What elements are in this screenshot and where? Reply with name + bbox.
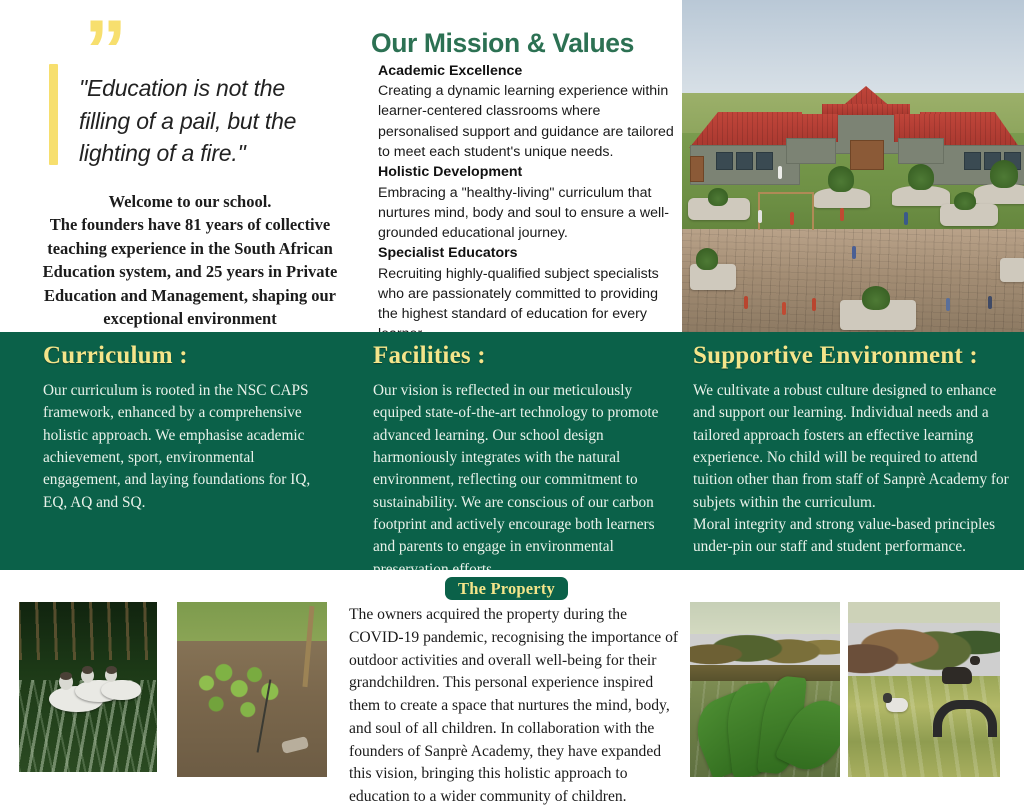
- person: [758, 210, 762, 223]
- goat-body: [942, 667, 972, 684]
- shrub: [708, 188, 728, 206]
- tyre: [933, 700, 997, 737]
- treeline-layer: [690, 613, 840, 673]
- mission-item: Academic Excellence Creating a dynamic l…: [378, 61, 678, 162]
- person: [904, 212, 908, 225]
- person: [744, 296, 748, 309]
- supportive-environment-column: Supportive Environment : We cultivate a …: [688, 332, 1024, 570]
- seedling-row: [195, 655, 291, 725]
- duck-cap: [106, 666, 117, 674]
- duck-cap: [82, 666, 93, 674]
- planter: [1000, 258, 1024, 282]
- quote-text: "Education is not the filling of a pail,…: [79, 72, 339, 170]
- shrub: [908, 164, 934, 190]
- quote-block: ” "Education is not the filling of a pai…: [0, 0, 360, 332]
- dog-head: [883, 693, 892, 703]
- mission-block: Our Mission & Values Academic Excellence…: [360, 0, 682, 332]
- supportive-environment-title: Supportive Environment :: [693, 342, 978, 370]
- duck: [101, 680, 141, 700]
- top-section: ” "Education is not the filling of a pai…: [0, 0, 1024, 332]
- shrub: [828, 166, 854, 192]
- shrub: [862, 286, 890, 310]
- curriculum-body: Our curriculum is rooted in the NSC CAPS…: [43, 380, 328, 514]
- mission-item-heading: Academic Excellence: [378, 61, 678, 81]
- mission-item: Holistic Development Embracing a "health…: [378, 162, 678, 243]
- window: [964, 152, 981, 170]
- mission-item-body: Creating a dynamic learning experience w…: [378, 81, 678, 162]
- person: [778, 166, 782, 179]
- pond-with-banana-plants-photo: [690, 602, 840, 777]
- window: [716, 152, 733, 170]
- shrub: [990, 160, 1018, 188]
- person: [782, 302, 786, 315]
- mission-title: Our Mission & Values: [371, 28, 634, 59]
- swing-frame: [758, 192, 814, 230]
- property-badge-label: The Property: [458, 579, 555, 599]
- person: [840, 208, 844, 221]
- shrub: [954, 192, 976, 210]
- window: [756, 152, 773, 170]
- facilities-body: Our vision is reflected in our meticulou…: [373, 380, 678, 581]
- person: [988, 296, 992, 309]
- curriculum-title: Curriculum :: [43, 342, 188, 370]
- mission-item-body: Embracing a "healthy-living" curriculum …: [378, 183, 678, 244]
- side-door: [690, 156, 704, 182]
- person: [790, 212, 794, 225]
- left-connector-wall: [786, 138, 836, 164]
- window: [736, 152, 753, 170]
- supportive-environment-body: We cultivate a robust culture designed t…: [693, 380, 1013, 559]
- welcome-text: Welcome to our school. The founders have…: [40, 190, 340, 331]
- facilities-column: Facilities : Our vision is reflected in …: [352, 332, 688, 570]
- shrub: [696, 248, 718, 270]
- reeds-layer: [19, 602, 157, 660]
- mission-item-heading: Holistic Development: [378, 162, 678, 182]
- entrance-door: [850, 140, 884, 170]
- quote-accent-bar: [49, 64, 58, 165]
- mission-item-heading: Specialist Educators: [378, 243, 678, 263]
- goat-head: [970, 656, 980, 665]
- person: [812, 298, 816, 311]
- duck-cap: [60, 672, 72, 680]
- mission-list: Academic Excellence Creating a dynamic l…: [378, 61, 678, 345]
- right-connector-wall: [898, 138, 944, 164]
- goat-on-tyre-and-dog-photo: [848, 602, 1000, 777]
- vegetable-garden-photo: [177, 602, 327, 777]
- property-body-text: The owners acquired the property during …: [349, 604, 683, 809]
- treeline-layer: [848, 602, 1000, 683]
- grass-layer: [177, 602, 327, 641]
- property-badge: The Property: [445, 577, 568, 600]
- school-building-photo: [682, 0, 1024, 332]
- green-feature-band: Curriculum : Our curriculum is rooted in…: [0, 332, 1024, 570]
- person: [946, 298, 950, 311]
- person: [852, 246, 856, 259]
- facilities-title: Facilities :: [373, 342, 486, 370]
- curriculum-column: Curriculum : Our curriculum is rooted in…: [0, 332, 352, 570]
- mission-item: Specialist Educators Recruiting highly-q…: [378, 243, 678, 344]
- ducks-on-pond-photo: [19, 602, 157, 772]
